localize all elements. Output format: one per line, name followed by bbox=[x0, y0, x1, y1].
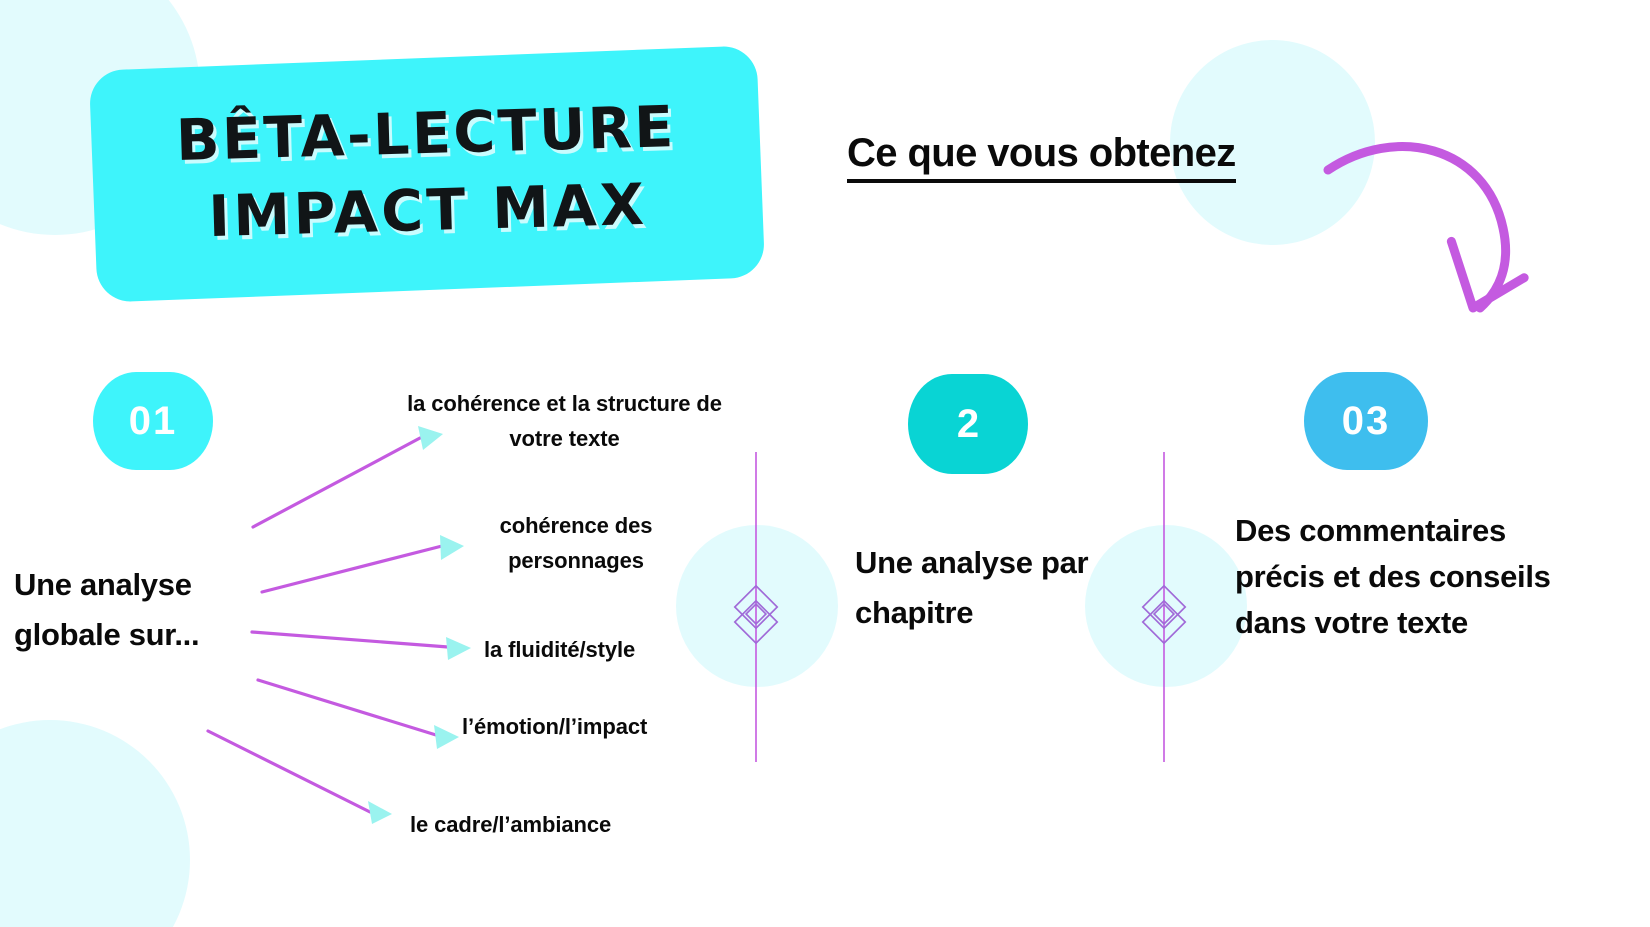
decorative-blob-bottom-left bbox=[0, 720, 190, 927]
arrowhead-3 bbox=[446, 637, 471, 660]
title-banner: BÊTA-LECTURE IMPACT MAX bbox=[89, 45, 765, 302]
step-badge-01: 01 bbox=[93, 372, 213, 470]
arrowhead-2 bbox=[440, 535, 464, 560]
slide-canvas: BÊTA-LECTURE IMPACT MAX Ce que vous obte… bbox=[0, 0, 1650, 927]
divider-ornament-1 bbox=[726, 452, 786, 762]
column-2-statement: Une analyse par chapitre bbox=[855, 538, 1115, 638]
curved-arrow-icon bbox=[1320, 130, 1570, 360]
arrowhead-4 bbox=[434, 725, 459, 749]
bullet-item-4: l’émotion/l’impact bbox=[462, 709, 722, 744]
bullet-item-3: la fluidité/style bbox=[484, 632, 704, 667]
step-badge-02: 2 bbox=[908, 374, 1028, 474]
title-banner-text: BÊTA-LECTURE IMPACT MAX bbox=[91, 87, 763, 259]
bullet-item-1: la cohérence et la structure de votre te… bbox=[392, 386, 737, 456]
arrowhead-5 bbox=[368, 801, 392, 824]
section-heading: Ce que vous obtenez bbox=[847, 130, 1236, 183]
column-3-statement: Des commentaires précis et des conseils … bbox=[1235, 508, 1555, 646]
bullet-item-5: le cadre/l’ambiance bbox=[410, 807, 690, 842]
divider-ornament-2 bbox=[1134, 452, 1194, 762]
step-badge-03: 03 bbox=[1304, 372, 1428, 470]
column-1-statement: Une analyse globale sur... bbox=[14, 560, 294, 660]
bullet-item-2: cohérence des personnages bbox=[476, 508, 676, 578]
